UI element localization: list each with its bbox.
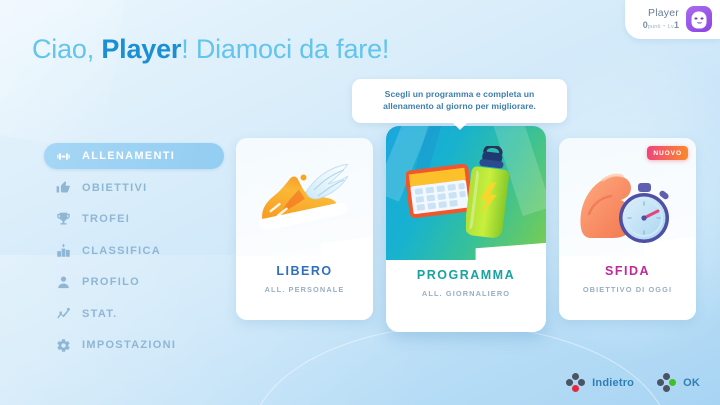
water-bottle-icon xyxy=(466,146,510,238)
card-programma-text: PROGRAMMA ALL. GIORNALIERO xyxy=(386,268,546,298)
status-badge: NUOVO xyxy=(647,146,688,160)
card-subtitle: OBIETTIVO DI OGGI xyxy=(559,285,696,294)
card-libero[interactable]: LIBERO ALL. PERSONALE xyxy=(236,138,373,320)
dpad-a-button-icon xyxy=(657,373,676,392)
player-name: Player xyxy=(643,8,679,19)
sidebar-item-profilo[interactable]: PROFILO xyxy=(44,269,224,295)
sidebar-item-label: CLASSIFICA xyxy=(82,245,161,257)
card-programma-art xyxy=(386,126,546,260)
back-button[interactable]: Indietro xyxy=(566,373,634,392)
card-sfida-text: SFIDA OBIETTIVO DI OGGI xyxy=(559,264,696,294)
calendar-icon xyxy=(406,164,472,218)
avatar[interactable] xyxy=(686,6,712,32)
page-title: Ciao, Player! Diamoci da fare! xyxy=(32,34,389,65)
sidebar-item-trofei[interactable]: TROFEI xyxy=(44,206,224,232)
thumbs-up-icon xyxy=(56,180,71,195)
sidebar-item-label: STAT. xyxy=(82,308,117,320)
card-libero-art xyxy=(236,138,373,256)
tooltip: Scegli un programma e completa un allena… xyxy=(352,79,567,123)
card-title: SFIDA xyxy=(559,264,696,278)
sidebar: ALLENAMENTI OBIETTIVI TROFEI CLASSIFICA … xyxy=(44,143,224,364)
sidebar-item-label: IMPOSTAZIONI xyxy=(82,339,176,351)
card-title: PROGRAMMA xyxy=(386,268,546,282)
sidebar-item-obiettivi[interactable]: OBIETTIVI xyxy=(44,175,224,201)
card-sfida[interactable]: NUOVO xyxy=(559,138,696,320)
player-score-unit: punti xyxy=(648,24,661,30)
player-meta: Player 0punti - Lv1 xyxy=(643,8,679,31)
sidebar-item-label: TROFEI xyxy=(82,213,130,225)
page-title-suffix: ! Diamoci da fare! xyxy=(181,34,389,64)
page-title-prefix: Ciao, xyxy=(32,34,101,64)
page-title-name: Player xyxy=(101,34,181,64)
sidebar-item-impostazioni[interactable]: IMPOSTAZIONI xyxy=(44,332,224,358)
stopwatch-icon xyxy=(615,182,675,244)
sidebar-item-label: OBIETTIVI xyxy=(82,182,147,194)
ok-button[interactable]: OK xyxy=(657,373,700,392)
sidebar-item-label: ALLENAMENTI xyxy=(82,150,175,162)
sidebar-item-classifica[interactable]: CLASSIFICA xyxy=(44,238,224,264)
footer-buttons: Indietro OK xyxy=(566,373,700,392)
podium-icon xyxy=(56,243,71,258)
player-level-value: 1 xyxy=(674,20,679,30)
avatar-face-icon xyxy=(692,11,707,28)
card-libero-text: LIBERO ALL. PERSONALE xyxy=(236,264,373,294)
workout-mode-cards: LIBERO ALL. PERSONALE xyxy=(236,126,696,338)
winged-running-shoe-icon xyxy=(252,164,356,234)
background-glow-top-left xyxy=(0,0,137,151)
player-score-separator: - xyxy=(661,21,668,30)
line-chart-icon xyxy=(56,306,71,321)
ok-button-label: OK xyxy=(683,377,700,389)
sidebar-item-label: PROFILO xyxy=(82,276,140,288)
card-subtitle: ALL. PERSONALE xyxy=(236,285,373,294)
tooltip-text: Scegli un programma e completa un allena… xyxy=(362,88,557,113)
gear-icon xyxy=(56,338,71,353)
player-score: 0punti - Lv1 xyxy=(643,21,679,31)
person-icon xyxy=(56,275,71,290)
card-subtitle: ALL. GIORNALIERO xyxy=(386,289,546,298)
card-programma[interactable]: PROGRAMMA ALL. GIORNALIERO xyxy=(386,126,546,332)
sidebar-item-stat[interactable]: STAT. xyxy=(44,301,224,327)
dpad-b-button-icon xyxy=(566,373,585,392)
player-chip[interactable]: Player 0punti - Lv1 xyxy=(625,0,720,39)
dumbbell-icon xyxy=(56,149,71,164)
back-button-label: Indietro xyxy=(592,377,634,389)
card-title: LIBERO xyxy=(236,264,373,278)
sidebar-item-allenamenti[interactable]: ALLENAMENTI xyxy=(44,143,224,169)
trophy-icon xyxy=(56,212,71,227)
